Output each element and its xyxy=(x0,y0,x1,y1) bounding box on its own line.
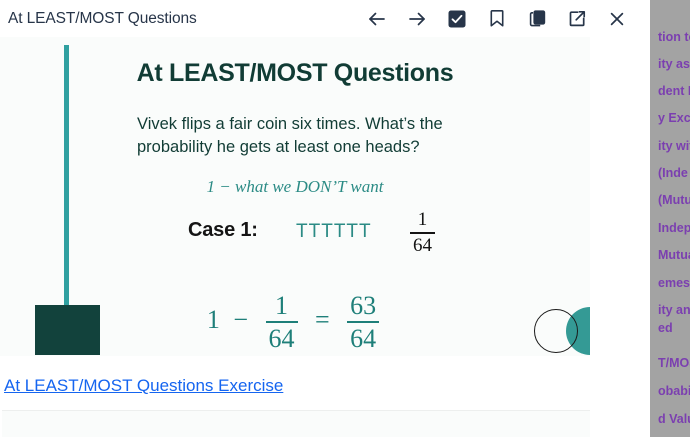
outline-item[interactable]: tion to xyxy=(658,30,690,44)
outline-item[interactable]: Indep xyxy=(658,221,690,235)
outline-item[interactable]: emes xyxy=(658,276,690,290)
outline-item[interactable]: y Exclu xyxy=(658,111,690,125)
outline-item[interactable]: ity and xyxy=(658,303,690,317)
case-probability-fraction: 1 64 xyxy=(406,210,439,255)
background-outline-panel: tion toity asdent Ey Excluity wit(Inde(M… xyxy=(650,0,690,437)
outline-item[interactable]: ity wit xyxy=(658,139,690,153)
final-lhs-whole: 1 xyxy=(207,305,220,334)
final-result-fraction: 63 64 xyxy=(347,292,379,352)
final-sub-denominator: 64 xyxy=(266,325,298,352)
outline-item[interactable]: Mutua xyxy=(658,248,690,262)
case-outcome: TTTTTT xyxy=(296,221,372,243)
slide-card: At LEAST/MOST Questions Vivek flips a fa… xyxy=(0,37,590,356)
final-subtrahend-fraction: 1 64 xyxy=(266,292,298,352)
slide-question-text: Vivek flips a fair coin six times. What’… xyxy=(137,113,487,159)
exercise-link[interactable]: At LEAST/MOST Questions Exercise xyxy=(4,376,283,396)
slide-hint-text: 1 − what we DON’T want xyxy=(0,177,590,197)
document-viewer: At LEAST/MOST Questions xyxy=(0,0,650,437)
case-label: Case 1: xyxy=(188,219,258,242)
outline-item[interactable]: (Mutu xyxy=(658,193,690,207)
copy-icon[interactable] xyxy=(526,8,548,30)
viewer-topbar: At LEAST/MOST Questions xyxy=(0,0,650,37)
final-result-fraction-bar xyxy=(347,321,379,323)
share-icon[interactable] xyxy=(566,8,588,30)
outline-item[interactable]: dent E xyxy=(658,84,690,98)
back-icon[interactable] xyxy=(366,8,388,30)
close-icon[interactable] xyxy=(606,8,628,30)
final-minus-sign: − xyxy=(233,305,248,334)
bookmark-icon[interactable] xyxy=(486,8,508,30)
case-row: Case 1: TTTTTT 1 64 xyxy=(0,213,590,261)
outline-item[interactable]: obabil xyxy=(658,384,690,398)
final-result-denominator: 64 xyxy=(347,325,379,352)
document-title: At LEAST/MOST Questions xyxy=(8,10,197,28)
final-equation: 1 − 1 64 = 63 64 xyxy=(0,292,590,352)
outline-item[interactable]: T/MOS xyxy=(658,356,690,370)
viewer-toolbar xyxy=(366,8,628,30)
final-result-numerator: 63 xyxy=(347,292,379,319)
final-sub-numerator: 1 xyxy=(272,292,291,319)
final-sub-fraction-bar xyxy=(266,321,298,323)
outline-item[interactable]: ity as xyxy=(658,57,690,71)
next-slide-card-peek xyxy=(2,410,590,437)
checkbox-checked-icon[interactable] xyxy=(446,8,468,30)
case-prob-fraction-bar xyxy=(410,232,435,234)
slide-title: At LEAST/MOST Questions xyxy=(0,59,590,88)
forward-icon[interactable] xyxy=(406,8,428,30)
outline-item[interactable]: (Inde xyxy=(658,166,690,180)
final-equals-sign: = xyxy=(315,305,330,334)
outline-item[interactable]: ed xyxy=(658,321,690,335)
outline-item[interactable]: d Value xyxy=(658,412,690,426)
case-prob-denominator: 64 xyxy=(410,236,435,256)
case-prob-numerator: 1 xyxy=(415,210,431,230)
